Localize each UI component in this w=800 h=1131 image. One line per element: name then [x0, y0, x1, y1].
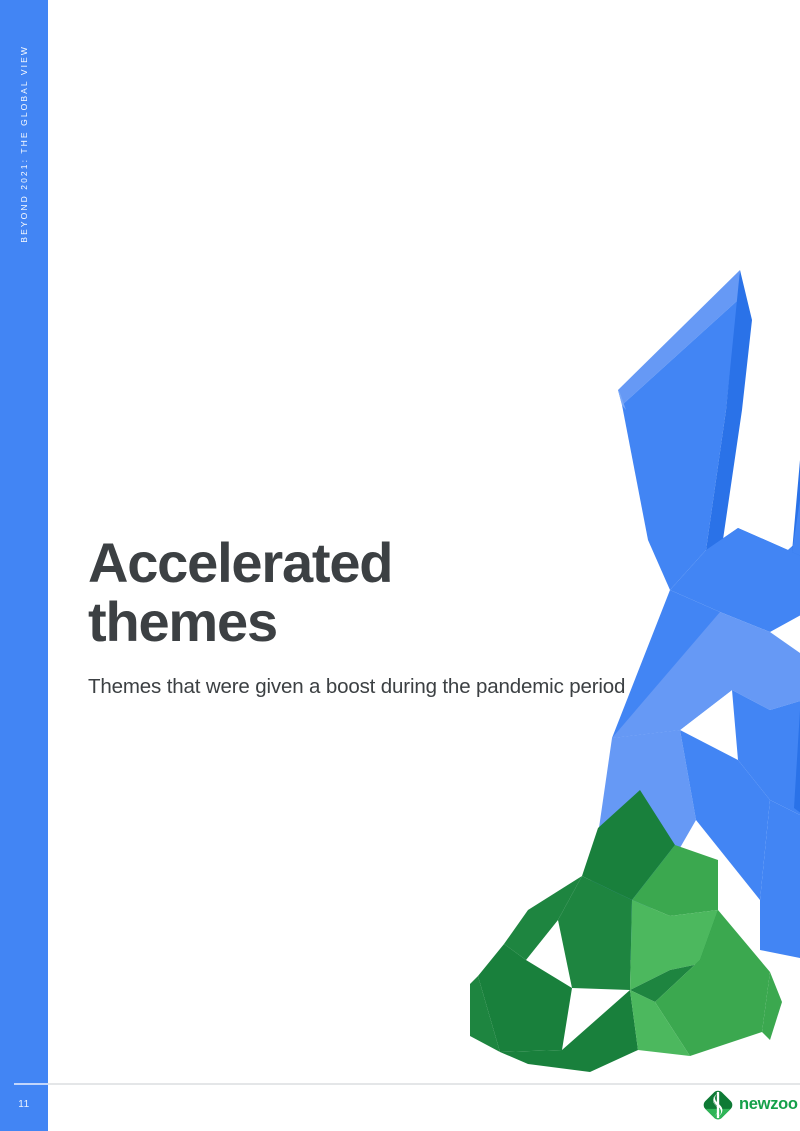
page-canvas: BEYOND 2021: THE GLOBAL VIEW 11 [0, 0, 800, 1131]
newzoo-diamond-icon [700, 1087, 736, 1123]
rock-center-dark-top [582, 790, 675, 900]
side-rail: BEYOND 2021: THE GLOBAL VIEW 11 [0, 0, 48, 1131]
rock-left-lower [470, 976, 500, 1052]
page-number: 11 [0, 1099, 48, 1110]
body-right-panel [732, 690, 800, 820]
page-title-line-1: Accelerated [88, 534, 708, 593]
slope-center-blue [680, 730, 770, 900]
rock-right-edge [762, 972, 782, 1040]
page-title-line-2: themes [88, 593, 708, 652]
saddle-upper [706, 528, 800, 590]
peak-left-shadow-edge [618, 390, 626, 410]
rock-left-mid [478, 944, 572, 1052]
rock-center-light-body [630, 900, 718, 990]
running-head-label: BEYOND 2021: THE GLOBAL VIEW [19, 45, 29, 243]
footer-divider [48, 1083, 800, 1085]
page-subtitle: Themes that were given a boost during th… [88, 652, 708, 701]
title-block: Accelerated themes Themes that were give… [88, 534, 708, 700]
rock-right-upper [630, 910, 718, 1002]
rock-left-base [500, 990, 638, 1072]
slope-right-blue [760, 800, 800, 960]
rock-center-dark-body [558, 876, 632, 990]
peak-left-face [618, 270, 740, 405]
peak-left-ridge [706, 270, 752, 560]
running-head-container: BEYOND 2021: THE GLOBAL VIEW [0, 0, 48, 300]
rock-center-light-top [632, 845, 718, 916]
rock-right-base [630, 990, 690, 1056]
peak-right-upper [792, 450, 800, 560]
slope-left-mid [590, 890, 662, 960]
newzoo-logo: newzoo [700, 1086, 792, 1124]
body-right-dark [794, 698, 800, 820]
rail-divider [14, 1083, 48, 1085]
slope-left-pale [590, 730, 696, 900]
rock-right-body [655, 910, 770, 1056]
page-title: Accelerated themes [88, 534, 708, 652]
newzoo-wordmark: newzoo [739, 1096, 798, 1114]
rock-left-upper [504, 876, 582, 960]
peak-right-face [792, 490, 800, 560]
